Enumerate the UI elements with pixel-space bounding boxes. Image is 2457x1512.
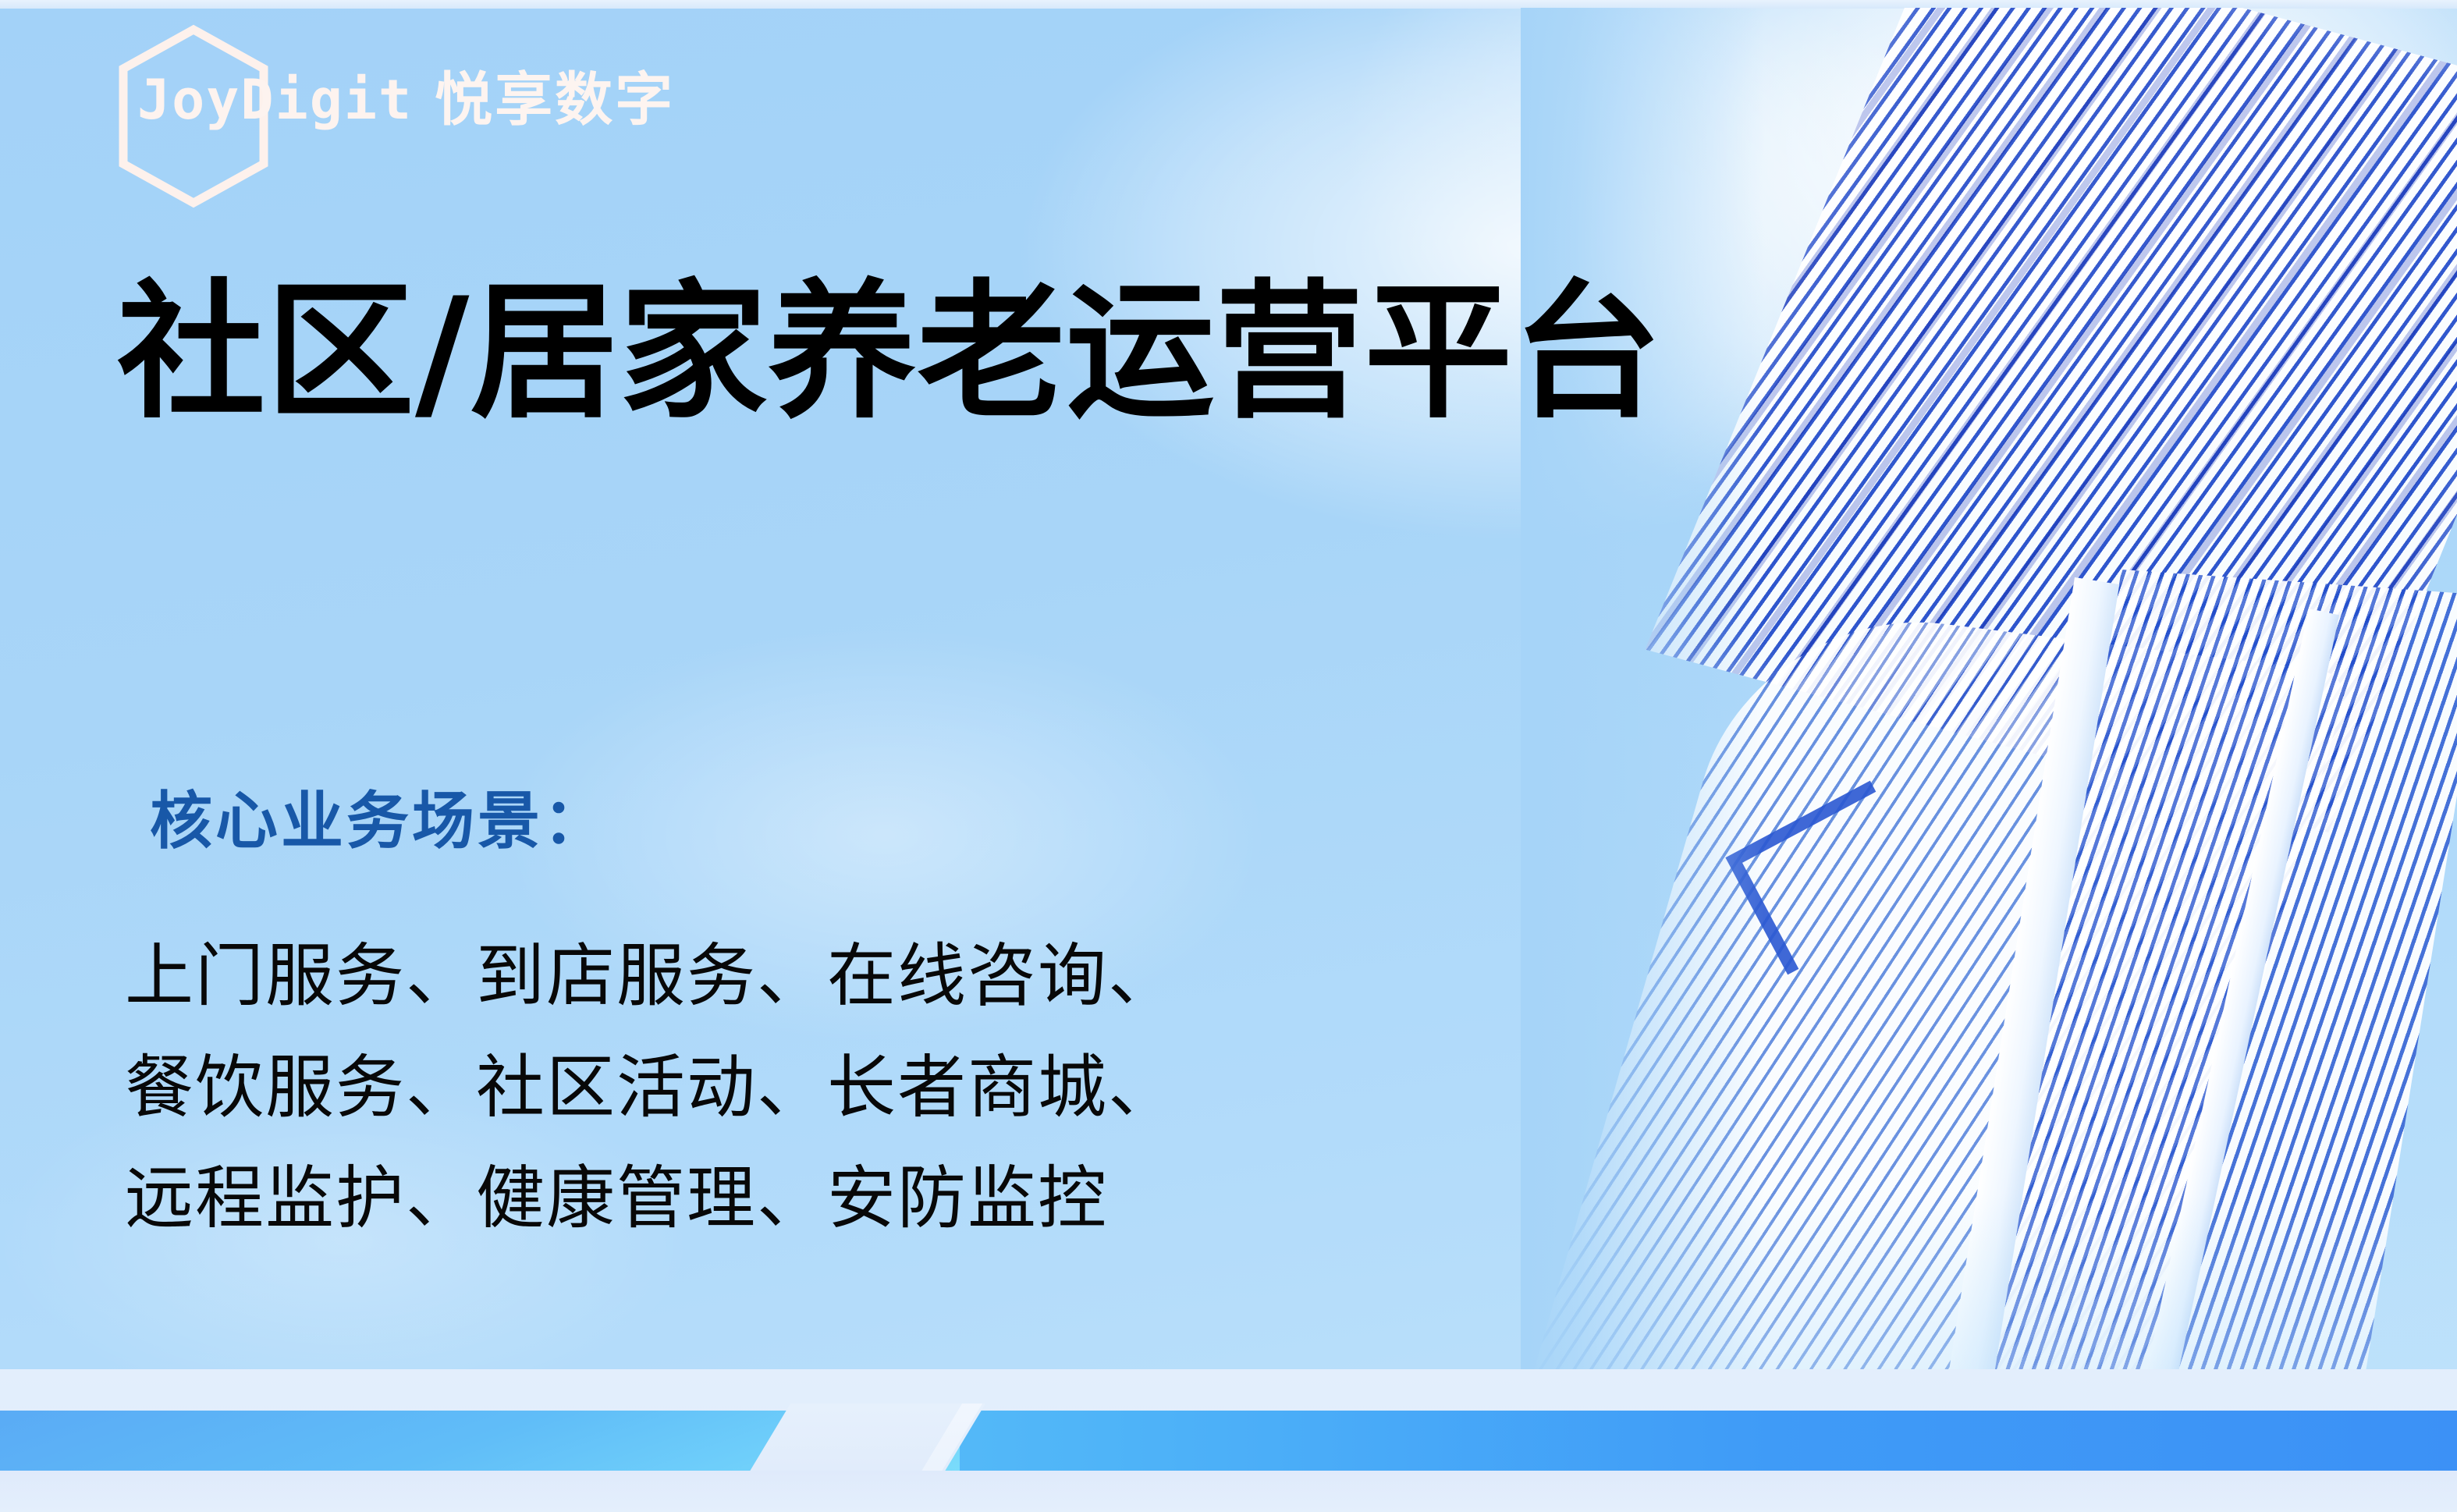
bottom-diagonal-ribbon [0,1369,2457,1512]
scenario-list: 上门服务、到店服务、在线咨询、 餐饮服务、社区活动、长者商城、 远程监护、健康管… [125,921,1178,1255]
scenario-line: 上门服务、到店服务、在线咨询、 [125,921,1178,1032]
logo-wordmark: JoyDigit [137,73,413,127]
skyscraper-photo [1521,8,2457,1420]
ribbon-bottom-fade [0,1471,2457,1512]
scenario-line: 餐饮服务、社区活动、长者商城、 [125,1032,1178,1144]
slide-canvas: JoyDigit 悦享数字 社区/居家养老运营平台 核心业务场景： 上门服务、到… [0,0,2457,1512]
scenario-line: 远程监护、健康管理、安防监控 [125,1143,1178,1255]
building-edge-fade [1521,8,2457,1420]
brand-logo: JoyDigit 悦享数字 [137,64,675,136]
page-title: 社区/居家养老运营平台 [117,275,1662,431]
section-label: 核心业务场景： [150,771,609,861]
logo-chinese-name: 悦享数字 [435,71,675,129]
